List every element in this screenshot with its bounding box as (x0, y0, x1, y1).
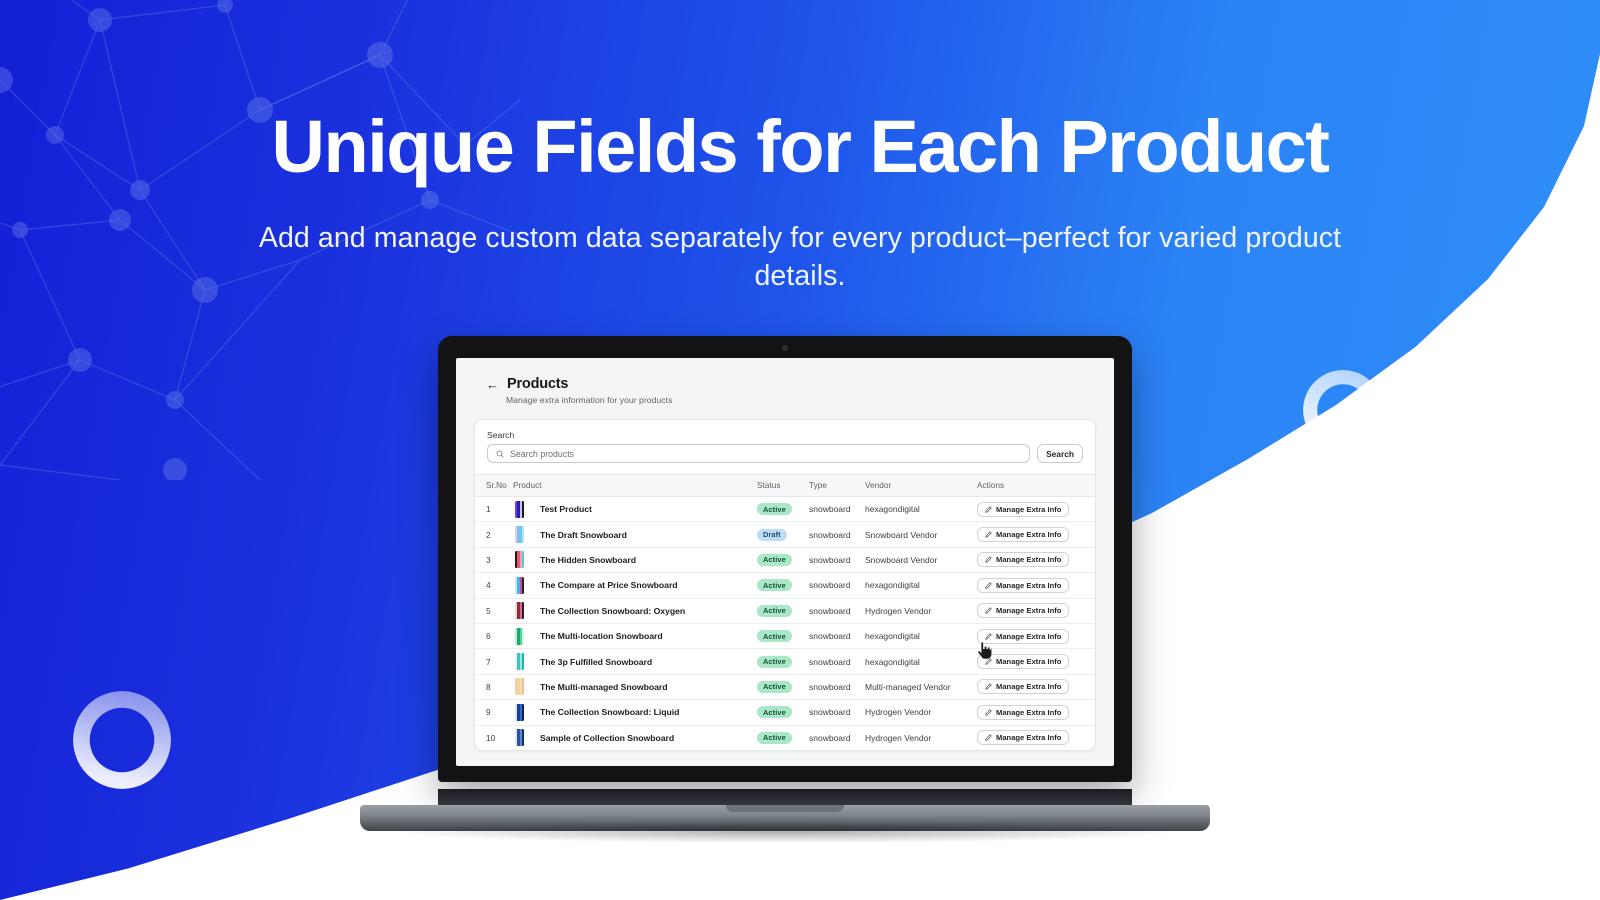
search-icon (496, 450, 504, 458)
status-badge: Active (757, 554, 792, 566)
decorative-ring-right (1303, 370, 1383, 450)
cell-srno: 7 (475, 649, 513, 674)
manage-extra-info-button[interactable]: Manage Extra Info (977, 578, 1069, 593)
cell-type: snowboard (809, 522, 865, 547)
status-badge: Draft (757, 529, 787, 541)
laptop-shadow (400, 821, 1170, 843)
cell-status: Active (757, 497, 809, 522)
cell-type: snowboard (809, 649, 865, 674)
laptop-screen: ← Products Manage extra information for … (456, 358, 1114, 766)
manage-extra-info-label: Manage Extra Info (996, 733, 1061, 742)
column-header-type: Type (809, 475, 865, 497)
decorative-ring-left (73, 691, 171, 789)
cell-srno: 8 (475, 674, 513, 699)
cell-srno: 10 (475, 725, 513, 750)
cell-product: The Multi-managed Snowboard (513, 674, 757, 699)
product-thumbnail (515, 526, 524, 543)
status-badge: Active (757, 579, 792, 591)
mouse-cursor-pointer-icon (975, 641, 993, 661)
table-row: 9The Collection Snowboard: LiquidActives… (475, 700, 1095, 725)
cell-type: snowboard (809, 674, 865, 699)
product-name: The Hidden Snowboard (540, 555, 636, 565)
product-thumbnail (515, 628, 524, 645)
app-window: ← Products Manage extra information for … (456, 358, 1114, 766)
search-label: Search (487, 430, 1083, 440)
page-title: Products (507, 376, 568, 392)
manage-extra-info-label: Manage Extra Info (996, 606, 1061, 615)
status-badge: Active (757, 732, 792, 744)
back-arrow-icon[interactable]: ← (486, 378, 499, 391)
table-row: 4The Compare at Price SnowboardActivesno… (475, 573, 1095, 598)
pencil-icon (985, 607, 992, 614)
manage-extra-info-label: Manage Extra Info (996, 632, 1061, 641)
hero-section: Unique Fields for Each Product Add and m… (0, 0, 1600, 295)
cell-type: snowboard (809, 573, 865, 598)
cell-srno: 1 (475, 497, 513, 522)
cell-type: snowboard (809, 623, 865, 648)
cell-product: The 3p Fulfilled Snowboard (513, 649, 757, 674)
manage-extra-info-label: Manage Extra Info (996, 530, 1061, 539)
cell-vendor: Hydrogen Vendor (865, 725, 977, 750)
cell-srno: 3 (475, 547, 513, 572)
manage-extra-info-button[interactable]: Manage Extra Info (977, 552, 1069, 567)
product-name: Test Product (540, 504, 592, 514)
product-thumbnail (515, 577, 524, 594)
cell-type: snowboard (809, 598, 865, 623)
product-thumbnail (515, 653, 524, 670)
cell-status: Active (757, 649, 809, 674)
product-name: The Multi-location Snowboard (540, 631, 663, 641)
manage-extra-info-button[interactable]: Manage Extra Info (977, 679, 1069, 694)
cell-status: Active (757, 674, 809, 699)
manage-extra-info-button[interactable]: Manage Extra Info (977, 502, 1069, 517)
cell-actions: Manage Extra Info (977, 700, 1095, 725)
cell-type: snowboard (809, 497, 865, 522)
cell-actions: Manage Extra Info (977, 497, 1095, 522)
manage-extra-info-label: Manage Extra Info (996, 505, 1061, 514)
products-table: Sr.No Product Status Type Vendor Actions… (475, 474, 1095, 750)
cell-type: snowboard (809, 725, 865, 750)
hero-subtitle: Add and manage custom data separately fo… (240, 220, 1360, 295)
cell-status: Active (757, 598, 809, 623)
page-subtitle: Manage extra information for your produc… (506, 395, 1096, 405)
cell-actions: Manage Extra Info (977, 725, 1095, 750)
status-badge: Active (757, 630, 792, 642)
cell-vendor: hexagondigital (865, 573, 977, 598)
pencil-icon (985, 633, 992, 640)
laptop-hinge (438, 789, 1132, 805)
cell-status: Active (757, 547, 809, 572)
manage-extra-info-button[interactable]: Manage Extra Info (977, 603, 1069, 618)
cell-actions: Manage Extra Info (977, 598, 1095, 623)
table-row: 10Sample of Collection SnowboardActivesn… (475, 725, 1095, 750)
product-name: The Multi-managed Snowboard (540, 682, 668, 692)
search-button[interactable]: Search (1037, 444, 1083, 463)
cell-vendor: hexagondigital (865, 649, 977, 674)
search-input[interactable]: Search products (487, 444, 1030, 463)
product-name: The 3p Fulfilled Snowboard (540, 657, 652, 667)
column-header-vendor: Vendor (865, 475, 977, 497)
cell-srno: 2 (475, 522, 513, 547)
cell-vendor: Multi-managed Vendor (865, 674, 977, 699)
column-header-product: Product (513, 475, 757, 497)
cell-type: snowboard (809, 547, 865, 572)
column-header-srno: Sr.No (475, 475, 513, 497)
product-thumbnail (515, 704, 524, 721)
pencil-icon (985, 506, 992, 513)
pencil-icon (985, 683, 992, 690)
laptop-lid: ← Products Manage extra information for … (438, 336, 1132, 782)
product-name: Sample of Collection Snowboard (540, 733, 674, 743)
cell-status: Active (757, 623, 809, 648)
pencil-icon (985, 734, 992, 741)
pencil-icon (985, 531, 992, 538)
cell-product: Test Product (513, 497, 757, 522)
cell-product: The Collection Snowboard: Liquid (513, 700, 757, 725)
cell-product: The Hidden Snowboard (513, 547, 757, 572)
cell-vendor: hexagondigital (865, 497, 977, 522)
manage-extra-info-label: Manage Extra Info (996, 581, 1061, 590)
status-badge: Active (757, 605, 792, 617)
product-name: The Collection Snowboard: Liquid (540, 707, 679, 717)
pencil-icon (985, 556, 992, 563)
cell-actions: Manage Extra Info (977, 573, 1095, 598)
cell-product: The Multi-location Snowboard (513, 623, 757, 648)
cell-srno: 6 (475, 623, 513, 648)
product-thumbnail (515, 729, 524, 746)
laptop-mockup: ← Products Manage extra information for … (360, 336, 1210, 831)
status-badge: Active (757, 503, 792, 515)
cell-vendor: Hydrogen Vendor (865, 700, 977, 725)
manage-extra-info-button[interactable]: Manage Extra Info (977, 527, 1069, 542)
table-row: 5The Collection Snowboard: OxygenActives… (475, 598, 1095, 623)
search-placeholder: Search products (510, 449, 574, 459)
cell-actions: Manage Extra Info (977, 522, 1095, 547)
manage-extra-info-label: Manage Extra Info (996, 657, 1061, 666)
cell-srno: 5 (475, 598, 513, 623)
table-row: 6The Multi-location SnowboardActivesnowb… (475, 623, 1095, 648)
cell-vendor: Hydrogen Vendor (865, 598, 977, 623)
manage-extra-info-label: Manage Extra Info (996, 682, 1061, 691)
product-thumbnail (515, 678, 524, 695)
cell-type: snowboard (809, 700, 865, 725)
cell-product: The Collection Snowboard: Oxygen (513, 598, 757, 623)
webcam-icon (782, 345, 788, 351)
pencil-icon (985, 582, 992, 589)
cell-actions: Manage Extra Info (977, 547, 1095, 572)
manage-extra-info-label: Manage Extra Info (996, 708, 1061, 717)
product-name: The Compare at Price Snowboard (540, 580, 678, 590)
products-card: Search Search products Search (474, 419, 1096, 751)
cell-srno: 4 (475, 573, 513, 598)
status-badge: Active (757, 681, 792, 693)
product-thumbnail (515, 551, 524, 568)
status-badge: Active (757, 706, 792, 718)
hero-title: Unique Fields for Each Product (0, 110, 1600, 184)
table-row: 8The Multi-managed SnowboardActivesnowbo… (475, 674, 1095, 699)
cell-vendor: Snowboard Vendor (865, 547, 977, 572)
column-header-actions: Actions (977, 475, 1095, 497)
table-header: Sr.No Product Status Type Vendor Actions (475, 475, 1095, 497)
product-name: The Collection Snowboard: Oxygen (540, 606, 685, 616)
table-row: 7The 3p Fulfilled SnowboardActivesnowboa… (475, 649, 1095, 674)
manage-extra-info-button[interactable]: Manage Extra Info (977, 730, 1069, 745)
cell-status: Active (757, 700, 809, 725)
cell-actions: Manage Extra Info (977, 649, 1095, 674)
pencil-icon (985, 709, 992, 716)
column-header-status: Status (757, 475, 809, 497)
search-section: Search Search products Search (475, 420, 1095, 474)
cell-vendor: hexagondigital (865, 623, 977, 648)
table-row: 1Test ProductActivesnowboardhexagondigit… (475, 497, 1095, 522)
table-row: 3The Hidden SnowboardActivesnowboardSnow… (475, 547, 1095, 572)
cell-status: Active (757, 573, 809, 598)
cell-product: The Compare at Price Snowboard (513, 573, 757, 598)
cell-status: Draft (757, 522, 809, 547)
product-thumbnail (515, 602, 524, 619)
cell-srno: 9 (475, 700, 513, 725)
status-badge: Active (757, 656, 792, 668)
cell-actions: Manage Extra Info (977, 623, 1095, 648)
cell-product: The Draft Snowboard (513, 522, 757, 547)
product-thumbnail (515, 501, 524, 518)
cell-status: Active (757, 725, 809, 750)
table-body: 1Test ProductActivesnowboardhexagondigit… (475, 497, 1095, 751)
manage-extra-info-label: Manage Extra Info (996, 555, 1061, 564)
page-header: ← Products Manage extra information for … (474, 374, 1096, 405)
cell-vendor: Snowboard Vendor (865, 522, 977, 547)
cell-actions: Manage Extra Info (977, 674, 1095, 699)
cell-product: Sample of Collection Snowboard (513, 725, 757, 750)
product-name: The Draft Snowboard (540, 530, 627, 540)
manage-extra-info-button[interactable]: Manage Extra Info (977, 705, 1069, 720)
table-row: 2The Draft SnowboardDraftsnowboardSnowbo… (475, 522, 1095, 547)
